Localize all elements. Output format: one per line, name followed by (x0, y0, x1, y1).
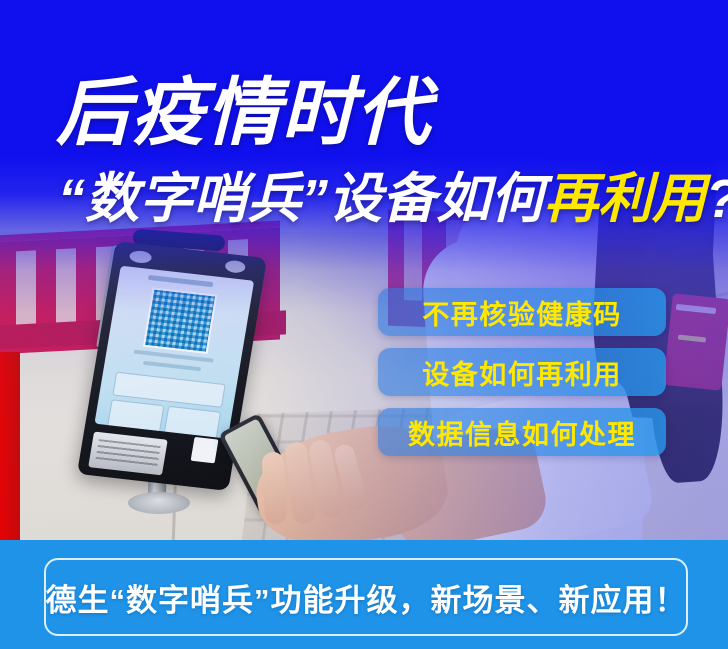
topic-pill-2-label: 设备如何再利用 (422, 353, 622, 392)
bottom-banner-text: 德生“数字哨兵”功能升级，新场景、新应用！ (46, 575, 687, 620)
topic-pill-3[interactable]: 数据信息如何处理 (378, 408, 666, 456)
poster: 后疫情时代 “数字哨兵”设备如何再利用? 不再核验健康码 设备如何再利用 数据信… (0, 0, 728, 649)
bottom-banner-frame: 德生“数字哨兵”功能升级，新场景、新应用！ (44, 558, 688, 636)
headline-question-mark: ? (706, 169, 728, 229)
topic-pill-1[interactable]: 不再核验健康码 (378, 288, 666, 336)
topic-pill-list: 不再核验健康码 设备如何再利用 数据信息如何处理 (378, 288, 666, 456)
bottom-banner: 德生“数字哨兵”功能升级，新场景、新应用！ (0, 540, 728, 649)
headline-highlight: 再利用 (544, 169, 706, 229)
topic-pill-2[interactable]: 设备如何再利用 (378, 348, 666, 396)
headline-line-1: 后疫情时代 (56, 76, 431, 150)
headline-line-2: “数字哨兵”设备如何再利用? (58, 172, 728, 226)
topic-pill-3-label: 数据信息如何处理 (408, 413, 636, 452)
topic-pill-1-label: 不再核验健康码 (422, 293, 622, 332)
headline-line-2-text: “数字哨兵”设备如何 (58, 169, 544, 229)
